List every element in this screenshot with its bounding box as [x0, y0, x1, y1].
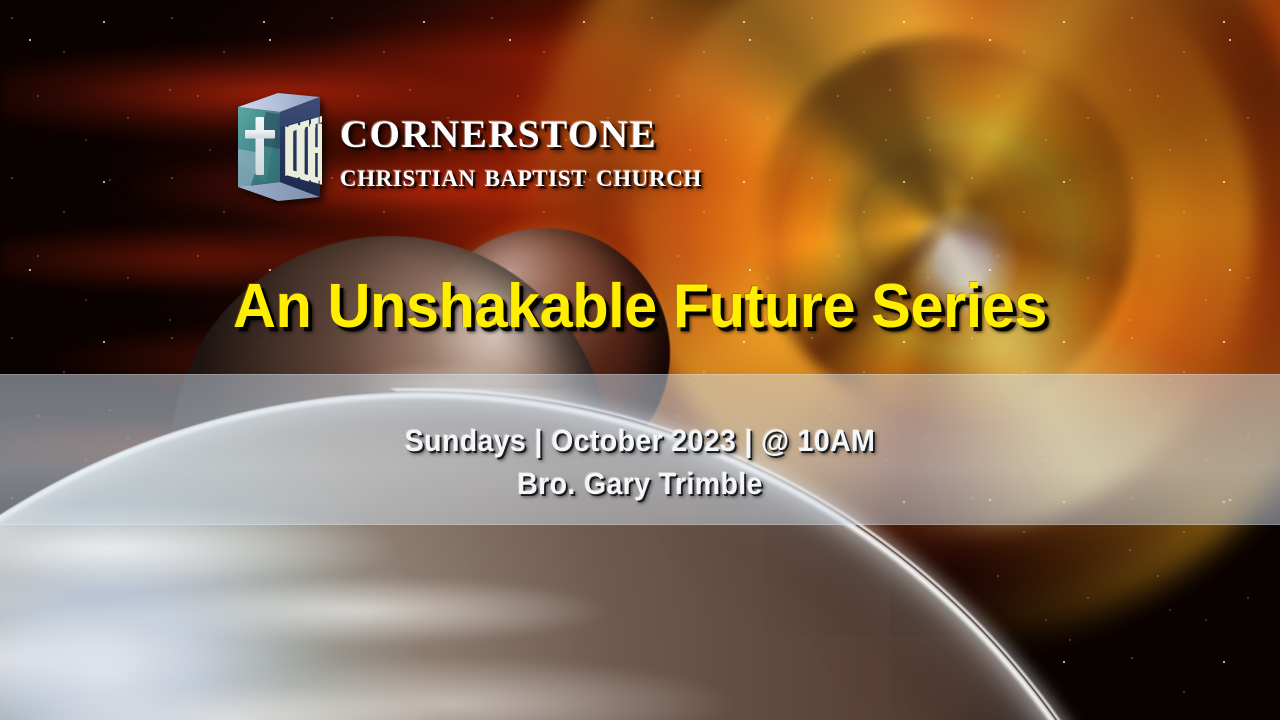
ccbc-cube-logo [236, 91, 322, 203]
event-details: Sundays | October 2023 | @ 10AM Bro. Gar… [0, 424, 1280, 501]
page-title: Cornerstone [340, 103, 702, 157]
speaker-line: Bro. Gary Trimble [51, 467, 1229, 502]
church-logo-block: Cornerstone Christian Baptist Church [236, 88, 1026, 206]
schedule-line: Sundays | October 2023 | @ 10AM [51, 424, 1229, 459]
church-wordmark: Cornerstone Christian Baptist Church [340, 101, 702, 193]
series-title: An Unshakable Future Series [26, 276, 1255, 338]
church-subtitle: Christian Baptist Church [340, 160, 702, 193]
sermon-series-slide: Cornerstone Christian Baptist Church An … [0, 0, 1280, 720]
